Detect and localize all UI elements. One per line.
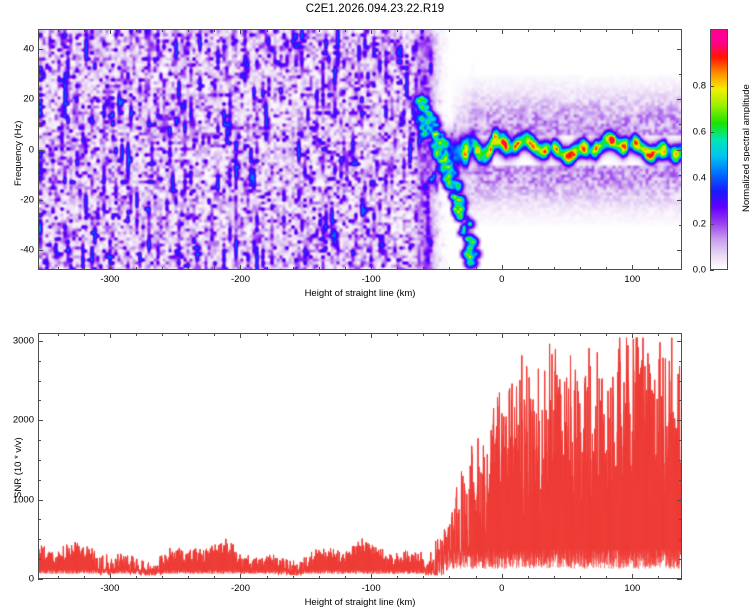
- x-tick-label: -200: [231, 583, 250, 594]
- x-minor-tick: [84, 576, 85, 579]
- x-minor-tick: [580, 576, 581, 579]
- x-minor-tick: [345, 576, 346, 579]
- snr-x-axis-title: Height of straight line (km): [305, 597, 416, 608]
- x-minor-tick-top: [214, 333, 215, 336]
- x-minor-tick-top: [267, 333, 268, 336]
- y-minor-tick: [38, 440, 41, 441]
- x-minor-tick: [397, 576, 398, 579]
- x-minor-tick-top: [528, 333, 529, 336]
- y-minor-tick-right: [679, 400, 682, 401]
- x-major-tick-top: [502, 333, 503, 338]
- x-minor-tick: [214, 576, 215, 579]
- x-minor-tick-top: [58, 333, 59, 336]
- y-minor-tick-right: [679, 559, 682, 560]
- x-minor-tick: [449, 576, 450, 579]
- x-minor-tick: [188, 576, 189, 579]
- y-minor-tick: [38, 539, 41, 540]
- x-minor-tick: [476, 576, 477, 579]
- x-minor-tick: [554, 576, 555, 579]
- y-minor-tick-right: [679, 519, 682, 520]
- y-major-tick-right: [677, 420, 682, 421]
- y-major-tick: [38, 500, 43, 501]
- x-major-tick: [502, 574, 503, 579]
- y-minor-tick: [38, 460, 41, 461]
- x-minor-tick-top: [84, 333, 85, 336]
- x-minor-tick-top: [449, 333, 450, 336]
- x-minor-tick-top: [397, 333, 398, 336]
- x-minor-tick: [658, 576, 659, 579]
- snr-trace: [39, 334, 681, 578]
- x-minor-tick: [319, 576, 320, 579]
- x-minor-tick-top: [345, 333, 346, 336]
- y-major-tick: [38, 420, 43, 421]
- x-minor-tick-top: [554, 333, 555, 336]
- x-minor-tick-top: [423, 333, 424, 336]
- x-major-tick-top: [632, 333, 633, 338]
- x-minor-tick-top: [188, 333, 189, 336]
- y-minor-tick: [38, 400, 41, 401]
- x-minor-tick-top: [476, 333, 477, 336]
- x-minor-tick: [136, 576, 137, 579]
- x-minor-tick-top: [136, 333, 137, 336]
- y-minor-tick-right: [679, 539, 682, 540]
- x-tick-label: 100: [624, 583, 640, 594]
- x-tick-label: -100: [362, 583, 381, 594]
- x-major-tick: [110, 574, 111, 579]
- y-tick-label: 0: [29, 574, 34, 585]
- y-tick-label: 2000: [13, 415, 34, 426]
- y-minor-tick: [38, 519, 41, 520]
- x-major-tick-top: [371, 333, 372, 338]
- x-major-tick: [371, 574, 372, 579]
- y-minor-tick-right: [679, 480, 682, 481]
- y-major-tick: [38, 579, 43, 580]
- y-major-tick-right: [677, 579, 682, 580]
- y-minor-tick: [38, 480, 41, 481]
- y-major-tick: [38, 341, 43, 342]
- x-minor-tick: [162, 576, 163, 579]
- x-minor-tick-top: [293, 333, 294, 336]
- snr-panel: -300-200-10001000100020003000 Height of …: [0, 0, 750, 600]
- x-tick-label: 0: [499, 583, 504, 594]
- x-minor-tick-top: [319, 333, 320, 336]
- y-minor-tick-right: [679, 361, 682, 362]
- y-major-tick-right: [677, 341, 682, 342]
- x-major-tick-top: [240, 333, 241, 338]
- x-minor-tick-top: [658, 333, 659, 336]
- y-minor-tick: [38, 361, 41, 362]
- x-minor-tick-top: [162, 333, 163, 336]
- x-minor-tick: [528, 576, 529, 579]
- y-minor-tick: [38, 381, 41, 382]
- x-minor-tick: [267, 576, 268, 579]
- figure-root: C2E1.2026.094.23.22.R19 -300-200-1000100…: [0, 0, 750, 600]
- x-minor-tick: [293, 576, 294, 579]
- y-major-tick-right: [677, 500, 682, 501]
- x-tick-label: -300: [100, 583, 119, 594]
- x-minor-tick: [58, 576, 59, 579]
- x-major-tick: [632, 574, 633, 579]
- x-minor-tick: [606, 576, 607, 579]
- y-minor-tick-right: [679, 440, 682, 441]
- snr-y-axis-title: SNR (10 * v/v): [13, 437, 24, 498]
- snr-plot-area: [38, 333, 682, 579]
- y-tick-label: 3000: [13, 335, 34, 346]
- x-minor-tick: [423, 576, 424, 579]
- x-minor-tick-top: [606, 333, 607, 336]
- y-minor-tick-right: [679, 460, 682, 461]
- y-minor-tick: [38, 559, 41, 560]
- x-major-tick: [240, 574, 241, 579]
- y-minor-tick-right: [679, 381, 682, 382]
- x-minor-tick-top: [580, 333, 581, 336]
- x-major-tick-top: [110, 333, 111, 338]
